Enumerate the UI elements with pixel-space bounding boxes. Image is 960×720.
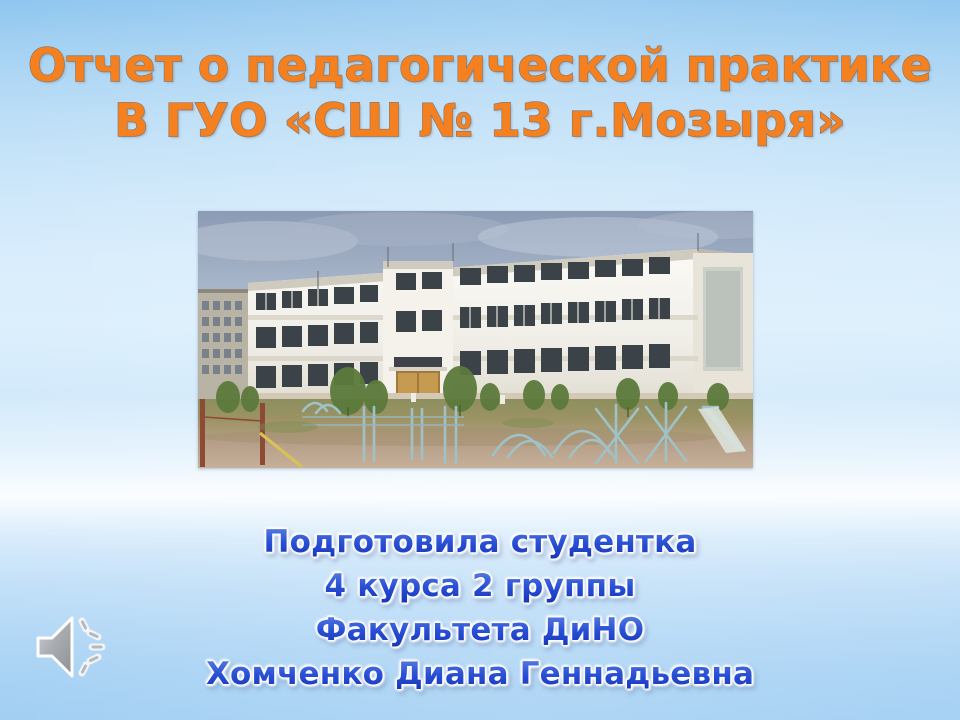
school-building-photo: [198, 211, 753, 468]
school-building-illustration: [198, 211, 753, 468]
slide-subtitle: Подготовила студентка 4 курса 2 группы Ф…: [0, 520, 960, 696]
presentation-slide: Отчет о педагогической практике В ГУО «С…: [0, 0, 960, 720]
speaker-body: [38, 618, 72, 676]
subtitle-line-4: Хомченко Диана Геннадьевна: [0, 652, 960, 696]
speaker-icon-glyph[interactable]: [28, 606, 114, 688]
slide-title: Отчет о педагогической практике В ГУО «С…: [0, 38, 960, 148]
speaker-icon[interactable]: [28, 606, 114, 688]
title-line-2: В ГУО «СШ № 13 г.Мозыря»: [0, 93, 960, 148]
subtitle-line-2: 4 курса 2 группы: [0, 564, 960, 608]
subtitle-line-1: Подготовила студентка: [0, 520, 960, 564]
title-line-1: Отчет о педагогической практике: [0, 38, 960, 93]
subtitle-line-3: Факультета ДиНО: [0, 608, 960, 652]
